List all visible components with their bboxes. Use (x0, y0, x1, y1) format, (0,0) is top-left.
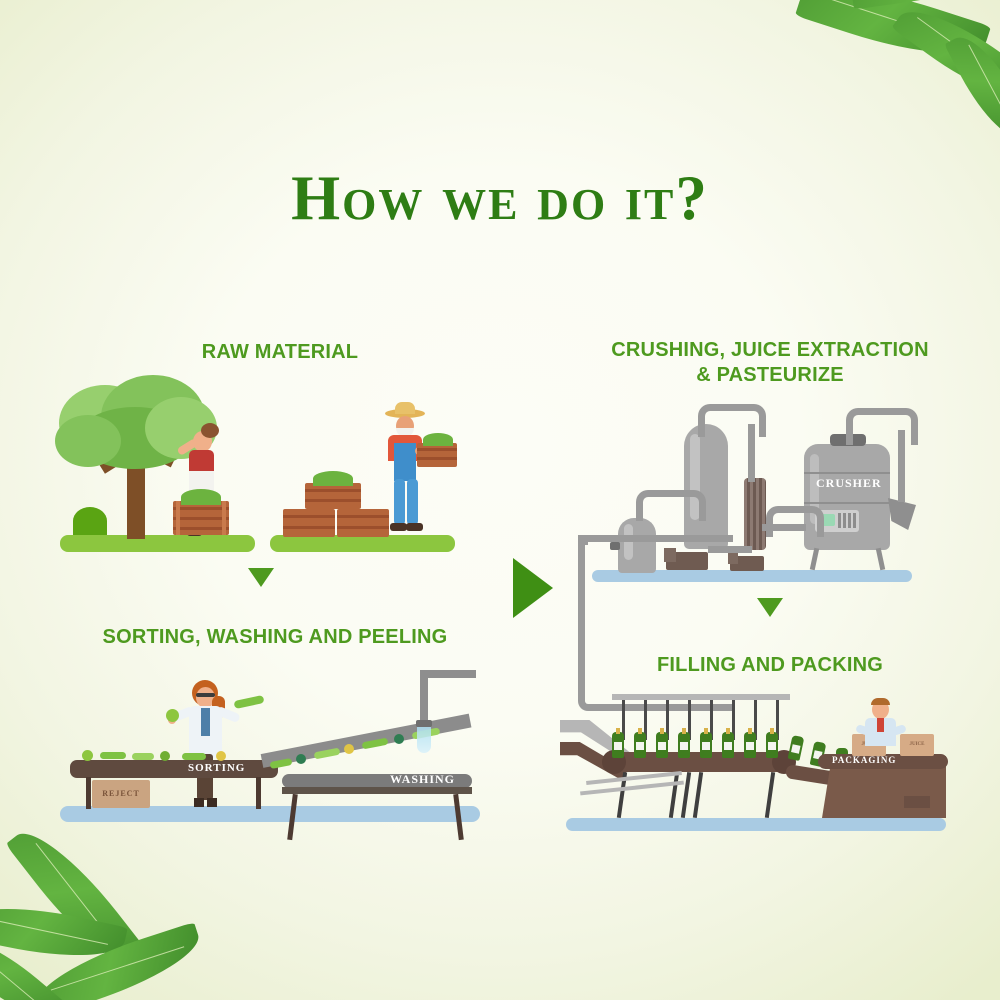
pipework (898, 430, 905, 502)
table-drawer (904, 796, 930, 808)
conveyor-leg (693, 772, 703, 818)
overalls (394, 443, 416, 481)
produce-greens (181, 489, 221, 505)
heading-line-2: & PASTEURIZE (570, 363, 970, 388)
water-pipe (420, 674, 428, 722)
hat-crown (395, 402, 415, 414)
pipework (636, 490, 706, 521)
produce-item (394, 734, 404, 744)
produce-item (160, 751, 170, 761)
heading-line-1: CRUSHING, JUICE EXTRACTION (570, 338, 970, 363)
crate-slat (417, 457, 457, 460)
crate-slat (173, 507, 229, 510)
tie (877, 718, 884, 732)
juice-transfer-pipe-top (578, 535, 588, 545)
washing-conveyor: WASHING (270, 724, 480, 810)
juice-bottle (788, 735, 805, 761)
juice-bottle (766, 732, 778, 758)
juice-transfer-pipe (578, 535, 733, 711)
crate-slat (305, 489, 361, 492)
neem-leaves-bottom-left (0, 840, 210, 1000)
heat-exchanger (744, 478, 766, 550)
vessel-band (804, 472, 890, 474)
machine-label-sorting: SORTING (188, 762, 245, 774)
crate-slat (283, 515, 335, 518)
glasses-icon (196, 693, 215, 697)
reject-box: REJECT (92, 780, 150, 808)
produce-greens (313, 471, 353, 486)
sorting-conveyor (70, 760, 278, 778)
crate-slat (283, 526, 335, 529)
pipe-nozzle (416, 720, 432, 727)
pipework (846, 408, 918, 445)
scene-sorting-washing: SORTING REJECT WASHING (60, 670, 480, 830)
grass-tuft (73, 507, 107, 535)
crate-slat (337, 526, 389, 529)
hair (871, 698, 890, 705)
juice-bottle (722, 732, 734, 758)
crate (305, 483, 361, 509)
leaf-icon (944, 26, 1000, 151)
table-leg (86, 777, 91, 809)
crate (337, 509, 389, 537)
conveyor-leg (681, 772, 691, 818)
produce-item (132, 753, 154, 760)
arrow-left-to-right-icon (513, 558, 553, 618)
crate (283, 509, 335, 537)
leg (394, 479, 405, 525)
juice-bottle (634, 732, 646, 758)
produce-item (296, 754, 306, 764)
pipework (698, 404, 766, 437)
hair-bun (201, 423, 219, 438)
table-leg (256, 777, 261, 809)
machine-label-crusher: CRUSHER (816, 476, 882, 491)
crate-slat (173, 527, 229, 530)
carried-crate (417, 443, 457, 467)
juice-bottle (678, 732, 690, 758)
page-title: How we do it? (0, 162, 1000, 235)
belt-rollers (282, 787, 472, 794)
scene-raw-material (55, 375, 475, 555)
crate-post (222, 501, 226, 535)
section-heading-raw-material: RAW MATERIAL (95, 340, 465, 365)
discharge-chute (888, 498, 916, 530)
section-heading-sorting: SORTING, WASHING AND PEELING (55, 625, 495, 650)
vessel-leg (810, 548, 819, 571)
produce-item (82, 750, 93, 761)
section-heading-crushing: CRUSHING, JUICE EXTRACTION & PASTEURIZE (570, 338, 970, 388)
neem-leaves-top-right (780, 0, 1000, 150)
produce-item (344, 744, 354, 754)
produce-item (182, 753, 206, 760)
leg (407, 479, 418, 525)
produce-item (233, 695, 264, 709)
pipework (748, 424, 755, 482)
conveyor-leg (669, 772, 679, 818)
scene-filling-packing: PACKAGING JUICE JUICE (560, 690, 960, 835)
harvest-crate (173, 501, 229, 535)
stacked-crates (283, 483, 393, 539)
floor-strip (566, 818, 946, 831)
shoe (207, 798, 217, 807)
lab-worker-sorting (172, 680, 242, 810)
vessel-band (804, 502, 890, 504)
vessel-leg (876, 548, 885, 571)
juice-bottle (656, 732, 668, 758)
conveyor-leg (765, 772, 775, 818)
panel-keypad (838, 513, 856, 528)
machine-label-washing: WASHING (390, 772, 455, 787)
pipework (766, 506, 824, 537)
tree-canopy (55, 415, 121, 467)
arrow-crushing-to-filling-icon (757, 598, 783, 617)
water-pipe (420, 670, 476, 678)
shoe (194, 798, 204, 807)
shirt-collar (201, 708, 210, 736)
produce-greens (423, 433, 453, 446)
produce-item (166, 709, 179, 722)
packing-worker (858, 698, 908, 758)
juice-bottle (744, 732, 756, 758)
produce-item (100, 752, 126, 759)
produce-item (216, 751, 226, 761)
crate-slat (305, 499, 361, 502)
crate-post (176, 501, 180, 535)
juice-bottle (612, 732, 624, 758)
crate-slat (417, 448, 457, 451)
juice-bottle (700, 732, 712, 758)
crate-slat (337, 515, 389, 518)
arrow-raw-to-sorting-icon (248, 568, 274, 587)
crate-slat (173, 517, 229, 520)
infographic-page: How we do it? RAW MATERIAL CRUSHING, JUI… (0, 0, 1000, 1000)
water-spray (417, 727, 431, 753)
shoe (406, 523, 423, 531)
